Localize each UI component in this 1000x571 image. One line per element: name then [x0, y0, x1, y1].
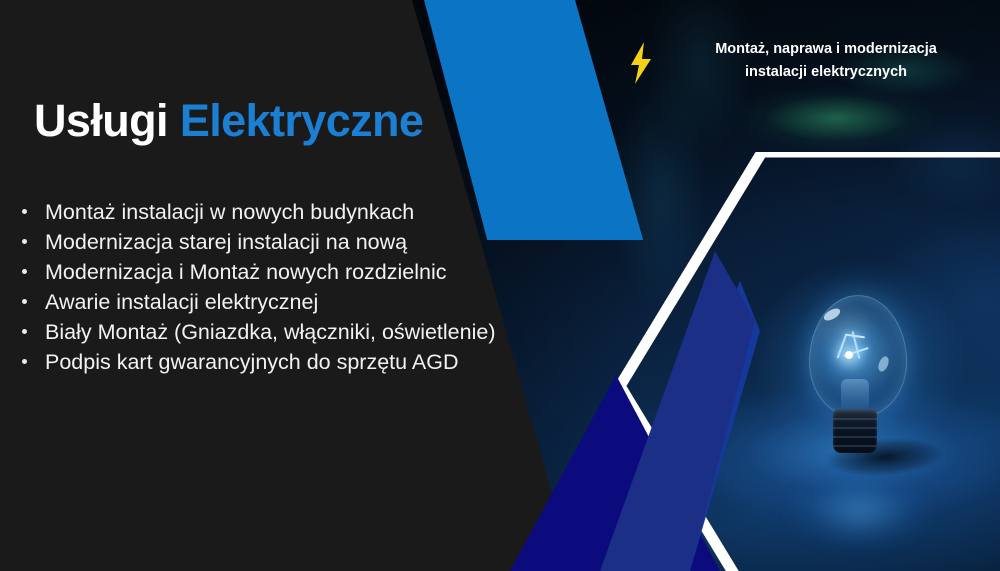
- bullet-dot-icon: [22, 359, 27, 364]
- service-text: Awarie instalacji elektrycznej: [45, 290, 318, 314]
- services-list: Montaż instalacji w nowych budynkach Mod…: [12, 197, 512, 377]
- headline-line-1: Montaż, naprawa i modernizacja: [666, 38, 986, 61]
- bulb-light-flare: [845, 351, 853, 359]
- list-item: Modernizacja starej instalacji na nową: [12, 227, 512, 257]
- bullet-dot-icon: [22, 329, 27, 334]
- service-text: Modernizacja starej instalacji na nową: [45, 230, 407, 254]
- bullet-dot-icon: [22, 269, 27, 274]
- bulb-stem: [841, 379, 869, 409]
- list-item: Podpis kart gwarancyjnych do sprzętu AGD: [12, 347, 512, 377]
- bulb-filament: [839, 331, 875, 365]
- list-item: Modernizacja i Montaż nowych rozdzielnic: [12, 257, 512, 287]
- bulb-screw-base: [833, 409, 877, 453]
- headline-line-2: instalacji elektrycznych: [666, 61, 986, 84]
- lightning-bolt-icon: [628, 42, 654, 84]
- light-bulb-photo: [795, 295, 925, 470]
- title-word-elektryczne: Elektryczne: [180, 95, 424, 146]
- title-word-uslugi: Usługi: [34, 95, 168, 146]
- list-item: Montaż instalacji w nowych budynkach: [12, 197, 512, 227]
- bullet-dot-icon: [22, 239, 27, 244]
- bullet-dot-icon: [22, 299, 27, 304]
- service-text: Podpis kart gwarancyjnych do sprzętu AGD: [45, 350, 458, 374]
- headline-text: Montaż, naprawa i modernizacja instalacj…: [666, 38, 986, 84]
- bullet-dot-icon: [22, 209, 27, 214]
- service-text: Modernizacja i Montaż nowych rozdzielnic: [45, 260, 447, 284]
- service-text: Montaż instalacji w nowych budynkach: [45, 200, 414, 224]
- page-title: Usługi Elektryczne: [34, 97, 423, 144]
- list-item: Awarie instalacji elektrycznej: [12, 287, 512, 317]
- list-item: Biały Montaż (Gniazdka, włączniki, oświe…: [12, 317, 512, 347]
- electrician-services-banner: Usługi Elektryczne Montaż instalacji w n…: [0, 0, 1000, 571]
- bulb-floor-reflection: [755, 475, 965, 571]
- service-text: Biały Montaż (Gniazdka, włączniki, oświe…: [45, 320, 495, 344]
